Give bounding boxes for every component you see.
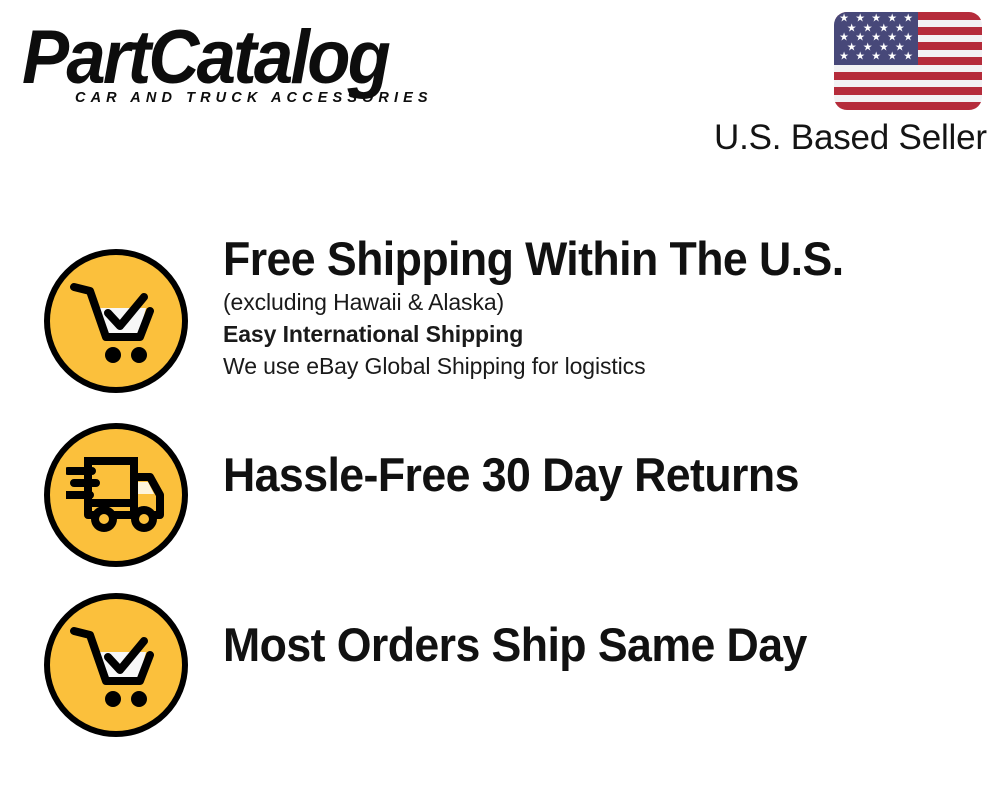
flag-stripe (834, 72, 982, 80)
feature-row-returns: Hassle-Free 30 Day Returns (0, 404, 1000, 576)
us-flag-icon: ★ ★ ★ ★ ★ ★ ★ ★ ★ ★ ★ ★ ★ ★ ★ ★ ★ ★ ★ ★ (834, 12, 982, 110)
feature-text-same-day: Most Orders Ship Same Day (188, 576, 1000, 672)
feature-subheading-international: Easy International Shipping (223, 318, 1000, 350)
feature-text-returns: Hassle-Free 30 Day Returns (188, 404, 1000, 502)
flag-stripe (834, 65, 982, 73)
shopping-cart-check-icon (44, 249, 188, 393)
feature-row-free-shipping: Free Shipping Within The U.S. (excluding… (0, 232, 1000, 404)
feature-heading: Most Orders Ship Same Day (223, 618, 961, 672)
feature-list: Free Shipping Within The U.S. (excluding… (0, 232, 1000, 748)
feature-heading: Free Shipping Within The U.S. (223, 232, 961, 286)
flag-stripe (834, 80, 982, 88)
flag-canton: ★ ★ ★ ★ ★ ★ ★ ★ ★ ★ ★ ★ ★ ★ ★ ★ ★ ★ ★ ★ (834, 12, 918, 65)
shopping-cart-check-icon (44, 593, 188, 737)
feature-text-free-shipping: Free Shipping Within The U.S. (excluding… (188, 232, 1000, 382)
delivery-truck-icon (44, 423, 188, 567)
brand-wordmark: PartCatalog (22, 20, 459, 96)
flag-stripe (834, 95, 982, 103)
us-based-seller-label: U.S. Based Seller (714, 118, 982, 158)
us-based-seller-badge: ★ ★ ★ ★ ★ ★ ★ ★ ★ ★ ★ ★ ★ ★ ★ ★ ★ ★ ★ ★ (714, 12, 990, 158)
feature-heading: Hassle-Free 30 Day Returns (223, 448, 961, 502)
feature-subdetail-logistics: We use eBay Global Shipping for logistic… (223, 350, 1000, 382)
feature-row-same-day-shipping: Most Orders Ship Same Day (0, 576, 1000, 748)
flag-stripe (834, 87, 982, 95)
shipping-info-banner: PartCatalog CAR AND TRUCK ACCESSORIES ★ … (0, 0, 1000, 800)
brand-logo: PartCatalog CAR AND TRUCK ACCESSORIES (22, 20, 492, 120)
feature-subnote-exclusions: (excluding Hawaii & Alaska) (223, 286, 1000, 318)
flag-stripe (834, 102, 982, 110)
